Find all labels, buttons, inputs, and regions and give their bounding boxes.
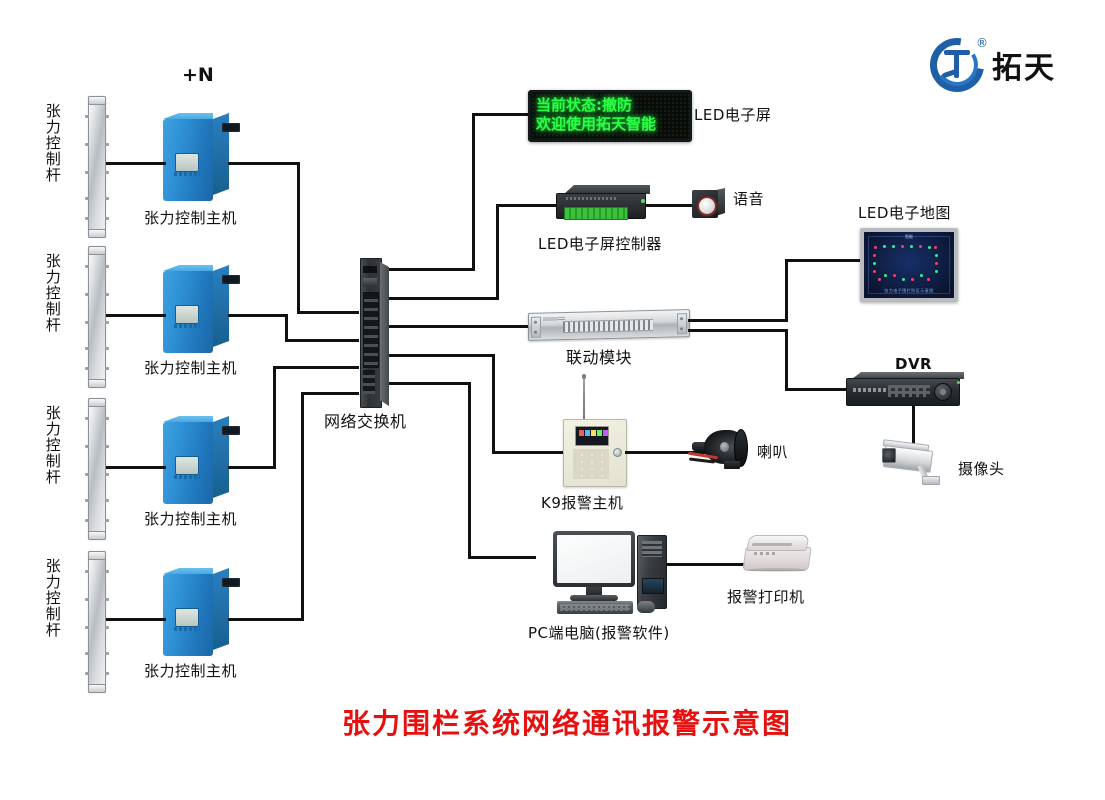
led-map-label: LED电子地图 [858,202,951,223]
wire-host2-b [285,314,288,342]
printer-icon [742,533,814,577]
wire-switch-pc-b [468,382,471,559]
wire-host4-b [301,392,304,621]
tension-host-3 [163,416,229,504]
brand-logo: ® 拓天 [930,38,1056,92]
page-title: 张力围栏系统网络通讯报警示意图 [342,702,792,742]
pc-label: PC端电脑(报警软件) [528,622,670,643]
brand-name: 拓天 [992,43,1056,87]
wire-host2-c [285,339,359,342]
led-screen-label: LED电子屏 [694,104,771,125]
switch-label: 网络交换机 [324,408,407,432]
wire-host1-c [297,311,359,314]
wire-pc-printer [666,563,746,566]
wire-switch-ledctl-b [496,204,499,300]
wire-linkage-map-b [785,259,788,322]
host-label-1: 张力控制主机 [144,207,237,228]
rack-module-icon [528,309,690,341]
host-label-3: 张力控制主机 [144,508,237,529]
wire-host4-a [228,618,304,621]
pole-label-1: 张力控制杆 [44,103,61,183]
wire-switch-ledctl-a [389,297,499,300]
led-controller-label: LED电子屏控制器 [538,233,662,254]
wire-linkage-dvr-b [785,329,788,391]
linkage-module-label: 联动模块 [566,344,632,368]
tension-host-2 [163,265,229,353]
tension-pole-2 [88,246,106,388]
led-map-screen-title: 智能 [864,234,954,240]
tension-host-4 [163,568,229,656]
wire-pole3-host3 [106,466,166,469]
host-label-2: 张力控制主机 [144,357,237,378]
pole-label-4: 张力控制杆 [44,558,61,638]
desktop-computer-icon [553,531,681,615]
wire-switch-alarm-a [389,354,495,357]
antenna-icon [583,378,585,420]
wire-linkage-map-c [785,259,860,262]
led-display-screen: 当前状态:撤防 欢迎使用拓天智能 [528,90,692,142]
wire-host3-c [273,366,359,369]
wire-host3-b [273,366,276,469]
wire-switch-pc-c [468,556,536,559]
wire-ledctl-voice [646,204,694,207]
wire-switch-led-a [389,268,475,271]
led-map-screen-caption: 张力电子围栏防区示意图 [864,288,954,294]
wire-switch-pc-a [389,382,471,385]
diagram-canvas: ® 拓天 张力控制杆 +N 张力控制主机 张力控制杆 张力控制主机 张力控制杆 [0,0,1105,800]
alarm-host-label: K9报警主机 [541,492,623,513]
wire-pole1-host1 [106,162,166,165]
wire-host1-b [297,162,300,314]
wire-host1-a [228,162,300,165]
led-controller-icon [556,185,652,223]
wire-host2-a [228,314,288,317]
plus-n-label: +N [182,64,214,86]
tension-pole-4 [88,551,106,693]
dvr-icon [846,372,964,406]
led-line-2: 欢迎使用拓天智能 [536,115,684,134]
pole-label-3: 张力控制杆 [44,405,61,485]
tension-pole-1 [88,96,106,238]
alarm-panel-icon [563,419,627,487]
wire-switch-alarm-c [492,451,564,454]
voice-label: 语音 [733,188,764,209]
pole-label-2: 张力控制杆 [44,253,61,333]
wire-linkage-dvr-c [785,388,848,391]
voice-speaker-icon [692,188,726,220]
wire-host4-c [301,392,359,395]
wire-host3-a [228,466,276,469]
camera-label: 摄像头 [958,458,1005,479]
led-line-1: 当前状态:撤防 [536,96,684,115]
horn-speaker-icon [690,428,748,470]
horn-label: 喇叭 [757,441,788,462]
led-map-icon: 智能 张力电子围栏防区示意图 [860,228,958,302]
wire-pole2-host2 [106,314,166,317]
tension-host-1 [163,113,229,201]
wire-pole4-host4 [106,618,166,621]
network-switch-icon [360,258,390,406]
wire-linkage-map-a [688,319,788,322]
tension-pole-3 [88,398,106,540]
wire-linkage-dvr-a [688,329,788,332]
printer-label: 报警打印机 [727,586,805,607]
wire-switch-led-c [472,113,530,116]
wire-switch-ledctl-c [496,204,558,207]
wire-switch-linkage [389,325,530,328]
host-label-4: 张力控制主机 [144,660,237,681]
tuotian-logo-icon: ® [930,38,984,92]
dvr-label: DVR [895,355,932,373]
registered-mark: ® [976,36,988,50]
camera-icon [880,445,944,489]
wire-switch-led-b [472,113,475,271]
wire-switch-alarm-b [492,354,495,454]
